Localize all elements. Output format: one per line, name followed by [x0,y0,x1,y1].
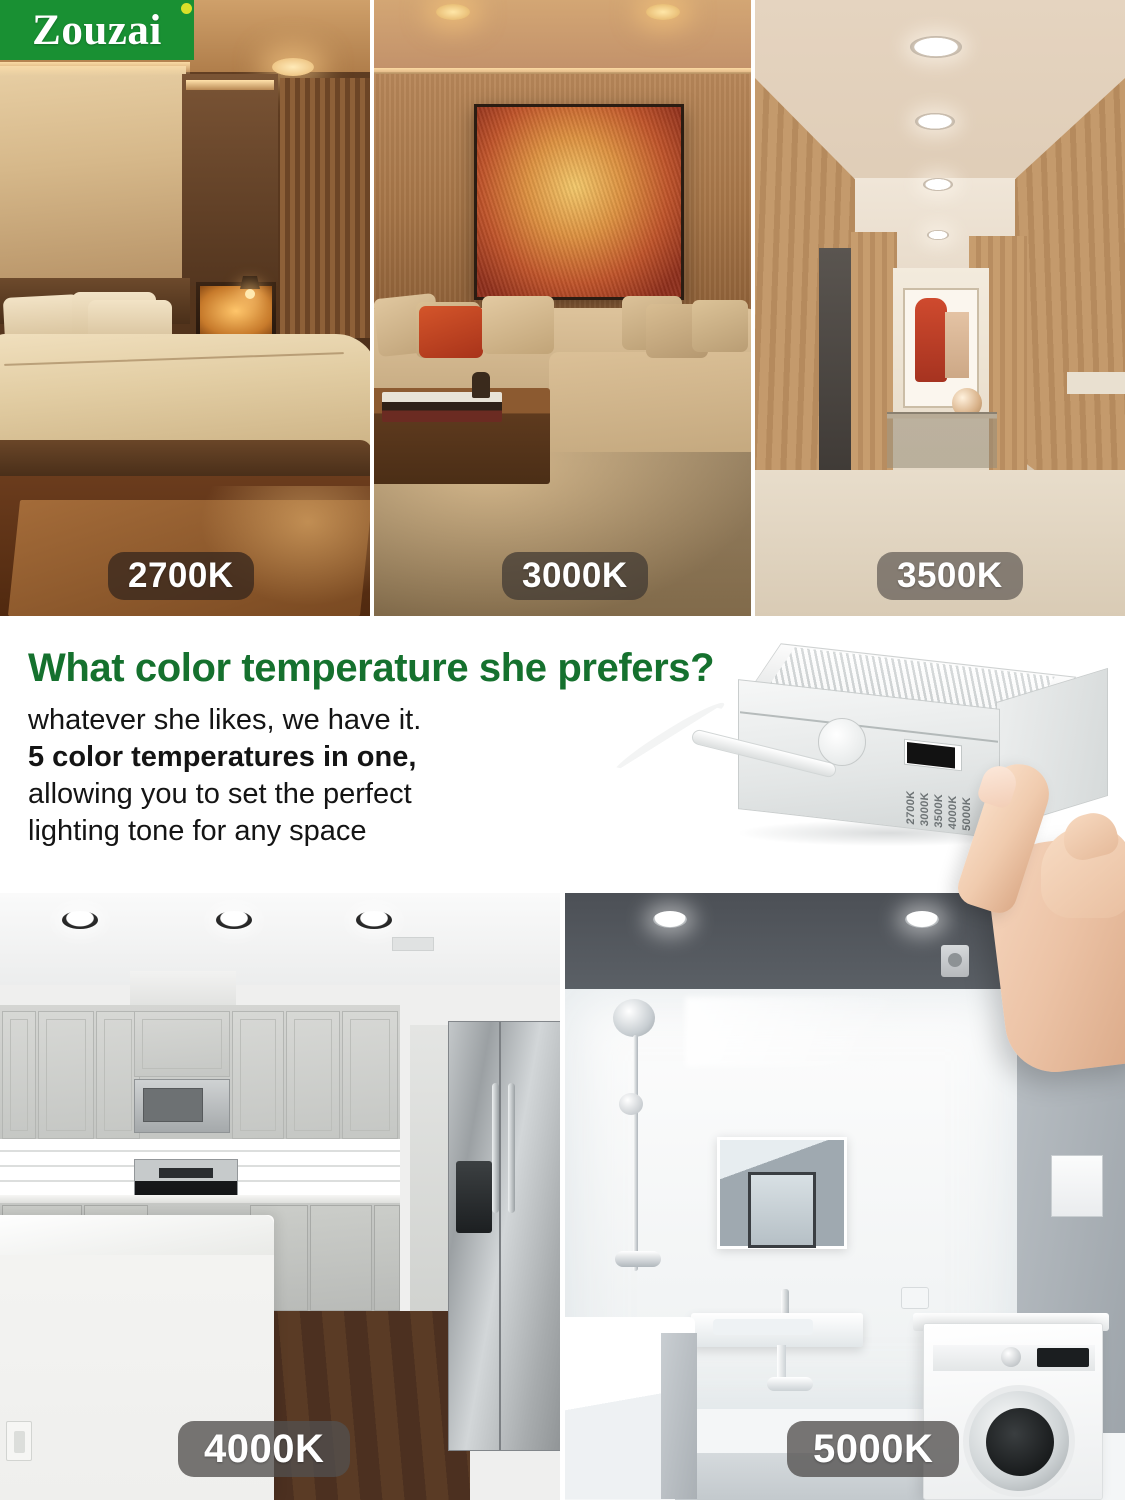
wall-outlet [6,1421,32,1461]
scene-panel-5000k: 5000K [565,893,1125,1500]
air-vent [392,937,434,951]
corridor-photo [755,0,1125,616]
brand-logo: Zouzai [0,0,194,60]
access-hatch [1051,1155,1103,1217]
tv-screen [200,286,272,336]
product-infographic: 2700K [0,0,1125,1500]
cct-label-2700k: 2700K [905,766,917,825]
wall-mirror [717,1137,847,1249]
downlight-fixture [436,4,470,20]
dark-doorway [819,248,855,478]
downlight-fixture [653,911,687,928]
curtain [280,78,370,338]
cct-label-4000k: 4000K [947,771,959,830]
downlight-fixture [216,911,252,929]
cabinet-door [232,1011,284,1139]
doorway [410,1025,452,1335]
bathroom-photo [565,893,1125,1500]
cct-switch-labels: 2700K 3000K 3500K 4000K 5000K [905,766,977,832]
marketing-text-band: What color temperature she prefers? what… [0,616,1125,896]
extractor-fan [941,945,969,977]
ceiling [374,0,751,72]
washer-door [963,1385,1075,1497]
cove-light-glow [0,62,190,76]
top-scene-row: 2700K [0,0,1125,616]
ceiling [0,893,560,985]
shower-rail [633,1035,638,1271]
cct-label-3500k: 3500K [933,769,945,828]
downlight-fixture [272,58,314,76]
shower-head [613,999,655,1037]
cushion [692,300,748,352]
product-junction-box: 2700K 3000K 3500K 4000K 5000K [700,640,1120,890]
living-room-photo [374,0,751,616]
side-shelf [1067,372,1125,394]
washer-program-dial [1001,1347,1021,1367]
fridge-handle [492,1083,499,1213]
handheld-shower [619,1093,643,1115]
artwork-shape [915,298,947,382]
cabinet-door [38,1011,94,1139]
console-table [887,412,997,468]
body-line-2-emphasis: 5 color temperatures in one, [28,739,588,776]
cabinet-door [286,1011,340,1139]
wall-artwork [474,104,684,300]
cable-gland [818,718,866,766]
scene-panel-3000k: 3000K [374,0,751,616]
island-countertop [0,1215,274,1255]
water-dispenser [456,1161,492,1233]
refrigerator [448,1021,560,1451]
scene-panel-3500k: 3500K [755,0,1125,616]
downlight-fixture [646,4,680,20]
downlight-fixture [915,113,955,130]
back-wall-panel [0,66,186,281]
wall-socket [901,1287,929,1309]
pendant-bulb [245,289,255,299]
drain-trap [767,1377,813,1391]
logo-accent-dot [181,3,192,14]
scene-panel-2700k: 2700K [0,0,370,616]
side-wall-panel [182,74,278,286]
bathtub-panel [661,1333,697,1499]
artwork-shape [945,312,969,378]
status-badge: 5000K [787,1421,959,1477]
downlight-fixture [927,230,949,240]
cabinet-door [310,1205,372,1311]
cabinet-door [374,1205,400,1311]
red-accent-cushion [419,306,483,358]
microwave [134,1079,230,1133]
cct-label-5000k: 5000K [961,772,973,831]
basin-bowl [713,1319,813,1335]
brand-name: Zouzai [32,6,162,55]
page-title: What color temperature she prefers? [28,646,588,690]
bedroom-photo [0,0,370,616]
status-badge: 4000K [178,1421,350,1477]
body-line-3: allowing you to set the perfect [28,776,588,813]
copy-block: What color temperature she prefers? what… [28,646,588,850]
shower-column [591,995,659,1295]
status-badge: 3000K [502,552,648,600]
status-badge: 3500K [877,552,1023,600]
table-ornament [472,372,490,398]
drain-pipe [777,1345,786,1381]
body-copy: whatever she likes, we have it. 5 color … [28,702,588,850]
body-line-1: whatever she likes, we have it. [28,702,588,739]
niche-light [186,80,274,90]
kitchen-photo [0,893,560,1500]
cabinet-door [342,1011,398,1139]
scene-panel-4000k: 4000K [0,893,560,1500]
status-badge: 2700K [108,552,254,600]
cabinet-door [134,1011,230,1077]
downlight-fixture [356,911,392,929]
fridge-handle [508,1083,515,1213]
shower-mixer-tap [615,1251,661,1267]
tile-reflection [685,997,985,1067]
body-line-4: lighting tone for any space [28,813,588,850]
downlight-fixture [910,36,962,58]
downlight-fixture [923,178,953,191]
bottom-scene-row: 4000K [0,893,1125,1500]
cushion [482,296,554,354]
pendant-lamp [240,276,260,289]
cabinet-door [2,1011,36,1139]
downlight-fixture [62,911,98,929]
cct-label-3000k: 3000K [919,767,931,826]
downlight-fixture [905,911,939,928]
